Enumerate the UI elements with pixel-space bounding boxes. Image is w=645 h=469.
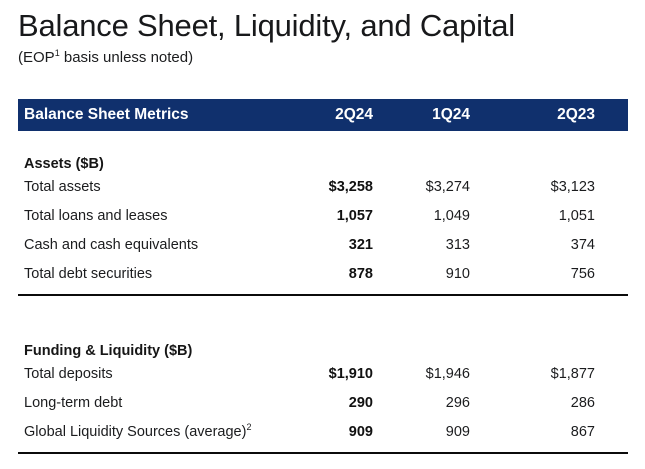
row-value-1q24: 909 (406, 417, 503, 446)
horizontal-rule (18, 294, 628, 296)
column-header-2q23: 2Q23 (503, 99, 628, 131)
row-value-2q24: 878 (307, 259, 406, 288)
column-header-2q24: 2Q24 (307, 99, 406, 131)
row-value-1q24: $3,274 (406, 172, 503, 201)
row-label: Total deposits (18, 359, 307, 388)
row-value-2q23: 867 (503, 417, 628, 446)
page-subtitle: (EOP1 basis unless noted) (18, 48, 633, 68)
table-row: Cash and cash equivalents 321 313 374 (18, 230, 628, 259)
row-label: Total loans and leases (18, 201, 307, 230)
title-block: Balance Sheet, Liquidity, and Capital (E… (18, 6, 633, 68)
row-label: Long-term debt (18, 388, 307, 417)
subtitle-prefix: (EOP (18, 49, 55, 66)
section-heading-assets: Assets ($B) (18, 131, 628, 172)
section-heading-funding-liquidity: Funding & Liquidity ($B) (18, 318, 628, 359)
row-label-text: Global Liquidity Sources (average) (24, 424, 246, 440)
row-value-2q23: 1,051 (503, 201, 628, 230)
balance-sheet-metrics-table: Balance Sheet Metrics 2Q24 1Q24 2Q23 Ass… (18, 99, 628, 456)
section-spacer-row (18, 298, 628, 318)
table-row: Total deposits $1,910 $1,946 $1,877 (18, 359, 628, 388)
section-heading-row: Funding & Liquidity ($B) (18, 318, 628, 359)
row-value-2q23: 756 (503, 259, 628, 288)
row-label-text: Total deposits (24, 366, 113, 382)
column-header-1q24: 1Q24 (406, 99, 503, 131)
table-body: Assets ($B) Total assets $3,258 $3,274 $… (18, 131, 628, 456)
row-value-2q24: 909 (307, 417, 406, 446)
table-bottom-divider-cell (18, 446, 628, 456)
row-value-1q24: 313 (406, 230, 503, 259)
row-value-2q24: 290 (307, 388, 406, 417)
row-value-2q24: $1,910 (307, 359, 406, 388)
row-value-2q23: 286 (503, 388, 628, 417)
column-header-metrics: Balance Sheet Metrics (18, 99, 307, 131)
row-footnote-marker: 2 (246, 422, 251, 432)
horizontal-rule (18, 452, 628, 454)
row-label-text: Long-term debt (24, 395, 122, 411)
table-header-row: Balance Sheet Metrics 2Q24 1Q24 2Q23 (18, 99, 628, 131)
row-label: Cash and cash equivalents (18, 230, 307, 259)
row-value-2q23: $3,123 (503, 172, 628, 201)
section-divider-cell (18, 288, 628, 298)
slide-root: Balance Sheet, Liquidity, and Capital (E… (0, 0, 645, 469)
row-value-1q24: $1,946 (406, 359, 503, 388)
table-row: Total debt securities 878 910 756 (18, 259, 628, 288)
section-spacer-cell (18, 298, 628, 318)
table-row: Total assets $3,258 $3,274 $3,123 (18, 172, 628, 201)
row-value-2q24: 1,057 (307, 201, 406, 230)
page-title: Balance Sheet, Liquidity, and Capital (18, 6, 633, 46)
section-divider-row (18, 288, 628, 298)
row-value-1q24: 1,049 (406, 201, 503, 230)
row-label: Total debt securities (18, 259, 307, 288)
row-value-2q24: $3,258 (307, 172, 406, 201)
row-label: Global Liquidity Sources (average)2 (18, 417, 307, 446)
table-header: Balance Sheet Metrics 2Q24 1Q24 2Q23 (18, 99, 628, 131)
row-value-2q24: 321 (307, 230, 406, 259)
table-bottom-divider-row (18, 446, 628, 456)
table-row: Global Liquidity Sources (average)2 909 … (18, 417, 628, 446)
table-row: Total loans and leases 1,057 1,049 1,051 (18, 201, 628, 230)
row-value-2q23: $1,877 (503, 359, 628, 388)
row-value-2q23: 374 (503, 230, 628, 259)
row-value-1q24: 910 (406, 259, 503, 288)
table-row: Long-term debt 290 296 286 (18, 388, 628, 417)
row-value-1q24: 296 (406, 388, 503, 417)
row-label: Total assets (18, 172, 307, 201)
section-heading-row: Assets ($B) (18, 131, 628, 172)
subtitle-suffix: basis unless noted) (60, 49, 193, 66)
